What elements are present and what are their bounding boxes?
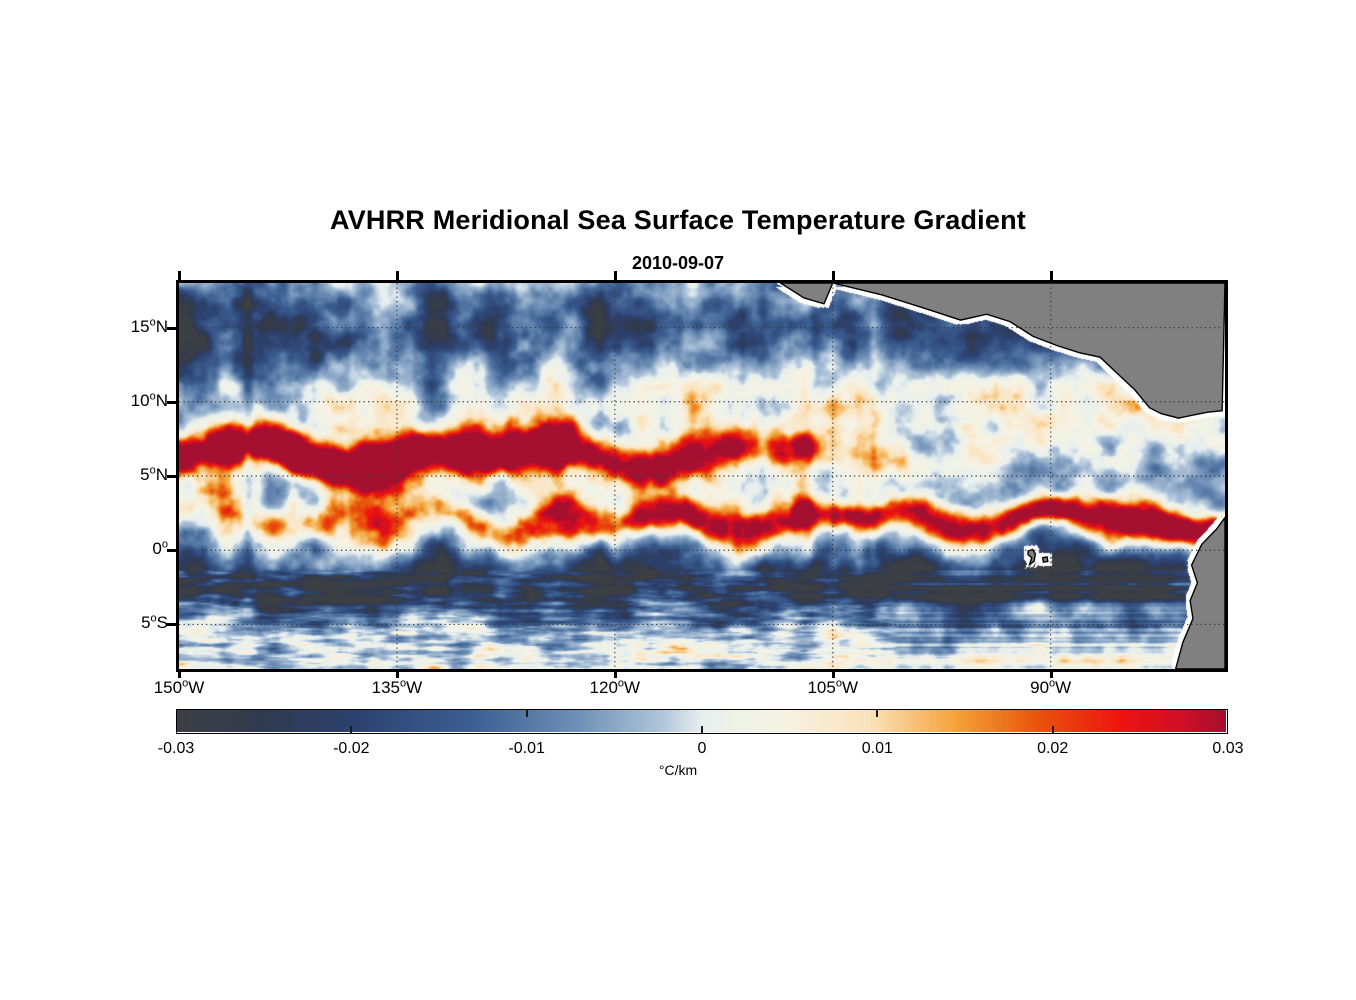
figure-canvas: AVHRR Meridional Sea Surface Temperature… [0,0,1356,1000]
x-axis-label-3: 105oW [763,678,903,698]
y-tick-2 [167,475,176,478]
x-axis-label-0: 150oW [109,678,249,698]
colorbar-tick-4 [876,709,878,717]
degree-symbol: o [151,613,157,625]
colorbar-tick-1 [350,726,352,734]
y-tick-4 [167,623,176,626]
y-axis-label-3: 0o [48,539,168,559]
figure-subtitle: 2010-09-07 [0,253,1356,274]
figure-title: AVHRR Meridional Sea Surface Temperature… [0,205,1356,236]
colorbar-label-5: 0.02 [993,740,1113,758]
x-axis-label-2: 120oW [545,678,685,698]
colorbar-label-6: 0.03 [1168,740,1288,758]
colorbar-label-1: -0.02 [291,740,411,758]
y-tick-3 [167,549,176,552]
degree-symbol: o [836,677,842,689]
degree-symbol: o [150,464,156,476]
degree-symbol: o [150,390,156,402]
colorbar-tick-2 [526,709,528,717]
colorbar-label-4: 0.01 [817,740,937,758]
degree-symbol: o [1049,677,1055,689]
y-tick-1 [167,401,176,404]
sst-gradient-heatmap [179,283,1225,669]
colorbar-label-3: 0 [642,740,762,758]
colorbar-label-2: -0.01 [467,740,587,758]
y-axis-label-1: 10oN [48,391,168,411]
degree-symbol: o [400,677,406,689]
degree-symbol: o [150,316,156,328]
degree-symbol: o [182,677,188,689]
y-axis-label-0: 15oN [48,317,168,337]
colorbar-tick-3 [701,726,703,734]
map-axes[interactable] [176,280,1228,672]
y-axis-label-4: 5oS [48,613,168,633]
y-tick-0 [167,327,176,330]
colorbar-label-0: -0.03 [116,740,236,758]
colorbar-tick-5 [1052,726,1054,734]
x-axis-label-1: 135oW [327,678,467,698]
degree-symbol: o [162,539,168,551]
colorbar-unit-label: °C/km [0,762,1356,778]
y-axis-label-2: 5oN [48,465,168,485]
degree-symbol: o [618,677,624,689]
x-axis-label-4: 90oW [981,678,1121,698]
